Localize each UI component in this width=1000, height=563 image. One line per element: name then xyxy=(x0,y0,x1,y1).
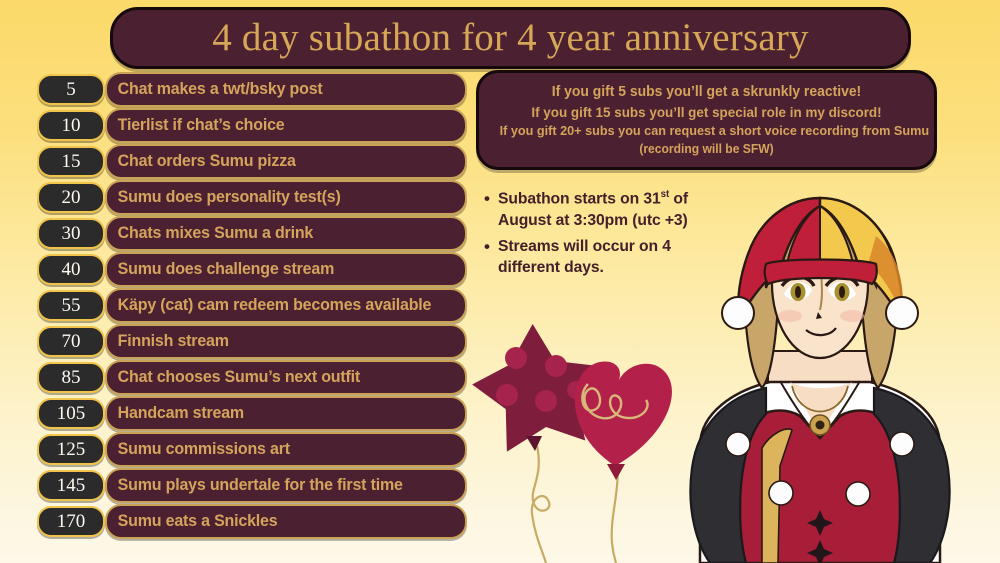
reward-label: Finnish stream xyxy=(107,333,229,350)
gift-info-line-2: If you gift 15 subs you’ll get special r… xyxy=(500,103,914,123)
reward-pill: Handcam stream xyxy=(105,396,467,431)
reward-row: 125Sumu commissions art xyxy=(0,432,470,468)
reward-count-badge: 15 xyxy=(37,146,105,177)
schedule-note: •Subathon starts on 31st of August at 3:… xyxy=(484,188,720,231)
eyes xyxy=(782,277,858,301)
reward-row: 85Chat chooses Sumu’s next outfit xyxy=(0,360,470,396)
reward-pill: Sumu eats a Snickles xyxy=(105,504,467,539)
reward-label: Chat orders Sumu pizza xyxy=(107,153,296,170)
hair-clip xyxy=(807,255,834,273)
reward-count-badge: 105 xyxy=(37,398,105,429)
reward-count-text: 55 xyxy=(62,296,81,315)
gift-info-box: If you gift 5 subs you’ll get a skrunkly… xyxy=(476,70,937,170)
reward-pill: Chat makes a twt/bsky post xyxy=(105,72,467,107)
reward-row: 15Chat orders Sumu pizza xyxy=(0,144,470,180)
schedule-notes: •Subathon starts on 31st of August at 3:… xyxy=(484,188,720,283)
reward-count-text: 170 xyxy=(57,512,86,531)
reward-count-text: 30 xyxy=(62,224,81,243)
star-balloon-string xyxy=(532,446,550,563)
page-title-text: 4 day subathon for 4 year anniversary xyxy=(212,18,809,57)
reward-row: 55Käpy (cat) cam redeem becomes availabl… xyxy=(0,288,470,324)
reward-label: Sumu plays undertale for the first time xyxy=(107,477,403,494)
gift-info-line-1: If you gift 5 subs you’ll get a skrunkly… xyxy=(500,82,914,103)
reward-count-badge: 5 xyxy=(37,74,105,105)
gift-info-line-3: If you gift 20+ subs you can request a s… xyxy=(500,122,914,141)
reward-count-text: 70 xyxy=(62,332,81,351)
reward-label: Chats mixes Sumu a drink xyxy=(107,225,313,242)
reward-row: 105Handcam stream xyxy=(0,396,470,432)
poster-canvas: 4 day subathon for 4 year anniversary 5C… xyxy=(0,0,1000,563)
reward-pill: Käpy (cat) cam redeem becomes available xyxy=(105,288,467,323)
reward-list: 5Chat makes a twt/bsky post10Tierlist if… xyxy=(0,72,470,540)
reward-label: Sumu eats a Snickles xyxy=(107,513,277,530)
balloons-decoration xyxy=(460,318,710,563)
reward-count-text: 10 xyxy=(62,116,81,135)
bullet-dot-icon: • xyxy=(484,188,490,231)
schedule-note-text: Subathon starts on 31st of August at 3:3… xyxy=(498,188,716,231)
reward-count-text: 5 xyxy=(66,80,76,99)
reward-row: 30Chats mixes Sumu a drink xyxy=(0,216,470,252)
reward-pill: Chat orders Sumu pizza xyxy=(105,144,467,179)
reward-count-text: 105 xyxy=(57,404,86,423)
right-sleeve xyxy=(874,388,950,563)
reward-count-badge: 20 xyxy=(37,182,105,213)
jester-hat xyxy=(722,198,918,329)
reward-count-badge: 70 xyxy=(37,326,105,357)
reward-row: 20Sumu does personality test(s) xyxy=(0,180,470,216)
reward-row: 40Sumu does challenge stream xyxy=(0,252,470,288)
reward-row: 5Chat makes a twt/bsky post xyxy=(0,72,470,108)
reward-pill: Tierlist if chat’s choice xyxy=(105,108,467,143)
dress-white-panel xyxy=(700,382,940,563)
gift-info-line-4: (recording will be SFW) xyxy=(500,141,914,159)
reward-label: Tierlist if chat’s choice xyxy=(107,117,284,134)
hair-front xyxy=(766,206,876,288)
reward-count-badge: 85 xyxy=(37,362,105,393)
reward-count-text: 145 xyxy=(57,476,86,495)
reward-pill: Sumu plays undertale for the first time xyxy=(105,468,467,503)
reward-count-text: 85 xyxy=(62,368,81,387)
schedule-note-text: Streams will occur on 4 different days. xyxy=(498,236,716,279)
heart-balloon-string xyxy=(612,468,618,563)
heart-balloon xyxy=(575,362,672,480)
reward-label: Handcam stream xyxy=(107,405,244,422)
reward-count-badge: 145 xyxy=(37,470,105,501)
reward-label: Käpy (cat) cam redeem becomes available xyxy=(107,297,431,314)
reward-count-text: 20 xyxy=(62,188,81,207)
reward-label: Sumu does personality test(s) xyxy=(107,189,341,206)
reward-pill: Finnish stream xyxy=(105,324,467,359)
reward-row: 170Sumu eats a Snickles xyxy=(0,504,470,540)
reward-pill: Sumu does personality test(s) xyxy=(105,180,467,215)
schedule-note: •Streams will occur on 4 different days. xyxy=(484,236,720,279)
left-sleeve xyxy=(690,388,766,563)
reward-count-badge: 10 xyxy=(37,110,105,141)
hair-back xyxy=(744,204,899,388)
reward-pill: Chats mixes Sumu a drink xyxy=(105,216,467,251)
reward-pill: Chat chooses Sumu’s next outfit xyxy=(105,360,467,395)
note-text-main: Subathon starts on 31 xyxy=(498,190,661,207)
reward-row: 70Finnish stream xyxy=(0,324,470,360)
reward-label: Sumu commissions art xyxy=(107,441,290,458)
reward-count-badge: 40 xyxy=(37,254,105,285)
reward-label: Sumu does challenge stream xyxy=(107,261,334,278)
reward-row: 145Sumu plays undertale for the first ti… xyxy=(0,468,470,504)
reward-count-badge: 125 xyxy=(37,434,105,465)
reward-count-badge: 55 xyxy=(37,290,105,321)
page-title: 4 day subathon for 4 year anniversary xyxy=(110,7,911,69)
ordinal-suffix: st xyxy=(660,189,669,200)
reward-label: Chat chooses Sumu’s next outfit xyxy=(107,369,360,386)
face xyxy=(772,216,868,358)
dress-red-bodice xyxy=(740,411,900,563)
reward-pill: Sumu commissions art xyxy=(105,432,467,467)
note-text-main: Streams will occur on 4 different days. xyxy=(498,238,671,276)
reward-pill: Sumu does challenge stream xyxy=(105,252,467,287)
reward-count-text: 40 xyxy=(62,260,81,279)
reward-label: Chat makes a twt/bsky post xyxy=(107,81,323,98)
reward-count-text: 15 xyxy=(62,152,81,171)
reward-count-badge: 170 xyxy=(37,506,105,537)
bullet-dot-icon: • xyxy=(484,236,490,279)
reward-count-badge: 30 xyxy=(37,218,105,249)
reward-count-text: 125 xyxy=(57,440,86,459)
star-balloon xyxy=(472,324,594,452)
reward-row: 10Tierlist if chat’s choice xyxy=(0,108,470,144)
